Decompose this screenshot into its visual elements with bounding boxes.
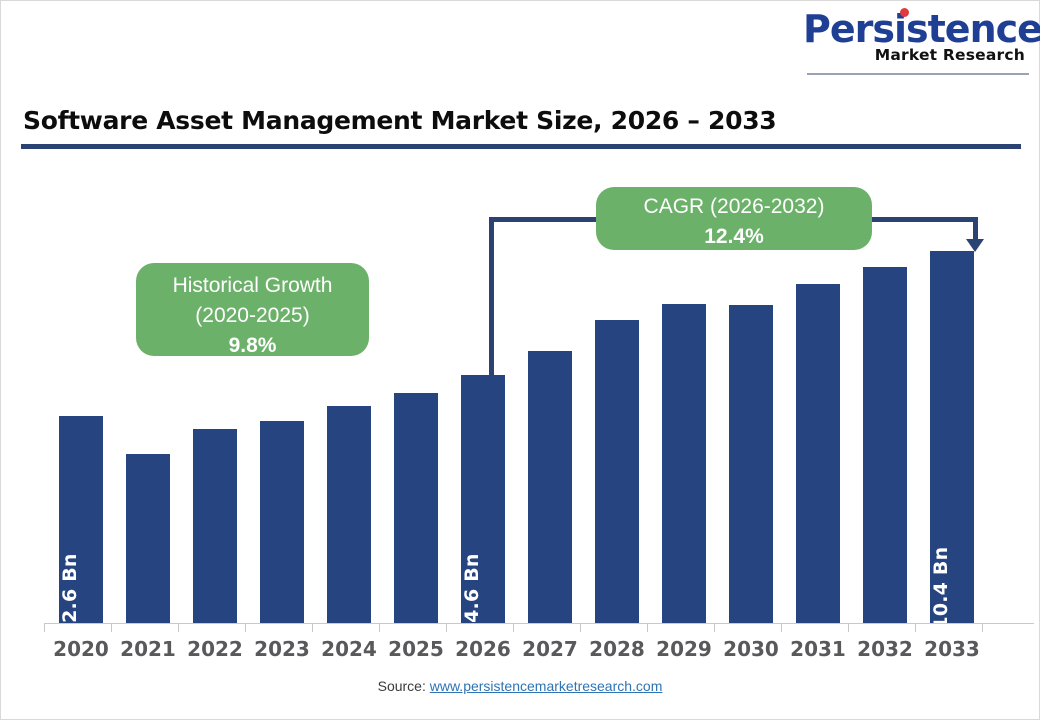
x-tick-2024 [312,623,313,632]
arrow-down-icon [966,239,984,252]
x-tick-2020 [44,623,45,632]
connector-historical-horizontal [489,217,601,222]
x-axis-line [44,623,1034,624]
x-tick-2026 [446,623,447,632]
callout-historical-growth: Historical Growth (2020-2025) 9.8% [136,263,369,356]
chart-page: Persistence Market Research Software Ass… [0,0,1040,720]
connector-historical-vertical [489,217,494,377]
x-axis-label-2033: 2033 [918,637,986,661]
brand-name: Persistence [803,9,1040,49]
x-axis-label-2023: 2023 [248,637,316,661]
x-axis-label-2027: 2027 [516,637,584,661]
bar-2031 [796,284,840,623]
x-tick-2022 [178,623,179,632]
x-axis-label-2032: 2032 [851,637,919,661]
chart-plot-area: US$ 2.6 BnUS$ 4.6 BnUS$ 10.4 Bn [1,151,1040,641]
x-tick-2027 [513,623,514,632]
callout-cagr: CAGR (2026-2032) 12.4% [596,187,872,250]
bar-2033: US$ 10.4 Bn [930,251,974,623]
x-axis-label-2025: 2025 [382,637,450,661]
x-tick-2023 [245,623,246,632]
x-tick-2029 [647,623,648,632]
brand-dot-icon [900,8,909,17]
source-line: Source: www.persistencemarketresearch.co… [1,678,1039,694]
bar-2024 [327,406,371,623]
x-axis-label-2020: 2020 [47,637,115,661]
x-axis-label-2028: 2028 [583,637,651,661]
connector-cagr-horizontal [867,217,978,222]
bar-2029 [662,304,706,623]
callout-historical-period: (2020-2025) [136,301,369,331]
x-axis-label-2024: 2024 [315,637,383,661]
bar-2026: US$ 4.6 Bn [461,375,505,623]
x-axis-label-2030: 2030 [717,637,785,661]
brand-rule [807,73,1029,75]
x-tick-2033 [915,623,916,632]
title-underline [21,144,1021,149]
x-tick-2028 [580,623,581,632]
x-tick-2021 [111,623,112,632]
page-title: Software Asset Management Market Size, 2… [23,106,776,135]
source-prefix: Source: [378,678,430,694]
bar-2020: US$ 2.6 Bn [59,416,103,623]
bar-2025 [394,393,438,623]
x-tick-2031 [781,623,782,632]
x-tick-end [982,623,983,632]
bar-2023 [260,421,304,623]
bar-2032 [863,267,907,623]
source-link[interactable]: www.persistencemarketresearch.com [430,678,663,694]
callout-historical-heading: Historical Growth [136,271,369,301]
x-axis-label-2022: 2022 [181,637,249,661]
bar-2022 [193,429,237,623]
callout-historical-value: 9.8% [136,331,369,361]
callout-cagr-value: 12.4% [596,222,872,252]
x-tick-2030 [714,623,715,632]
bar-2028 [595,320,639,623]
x-axis-label-2029: 2029 [650,637,718,661]
brand-logo: Persistence Market Research [803,9,1025,71]
bar-2027 [528,351,572,623]
x-tick-2032 [848,623,849,632]
callout-cagr-heading: CAGR (2026-2032) [596,192,872,222]
bar-2030 [729,305,773,623]
x-tick-2025 [379,623,380,632]
x-axis-label-2026: 2026 [449,637,517,661]
x-axis-label-2031: 2031 [784,637,852,661]
bar-2021 [126,454,170,623]
x-axis-label-2021: 2021 [114,637,182,661]
